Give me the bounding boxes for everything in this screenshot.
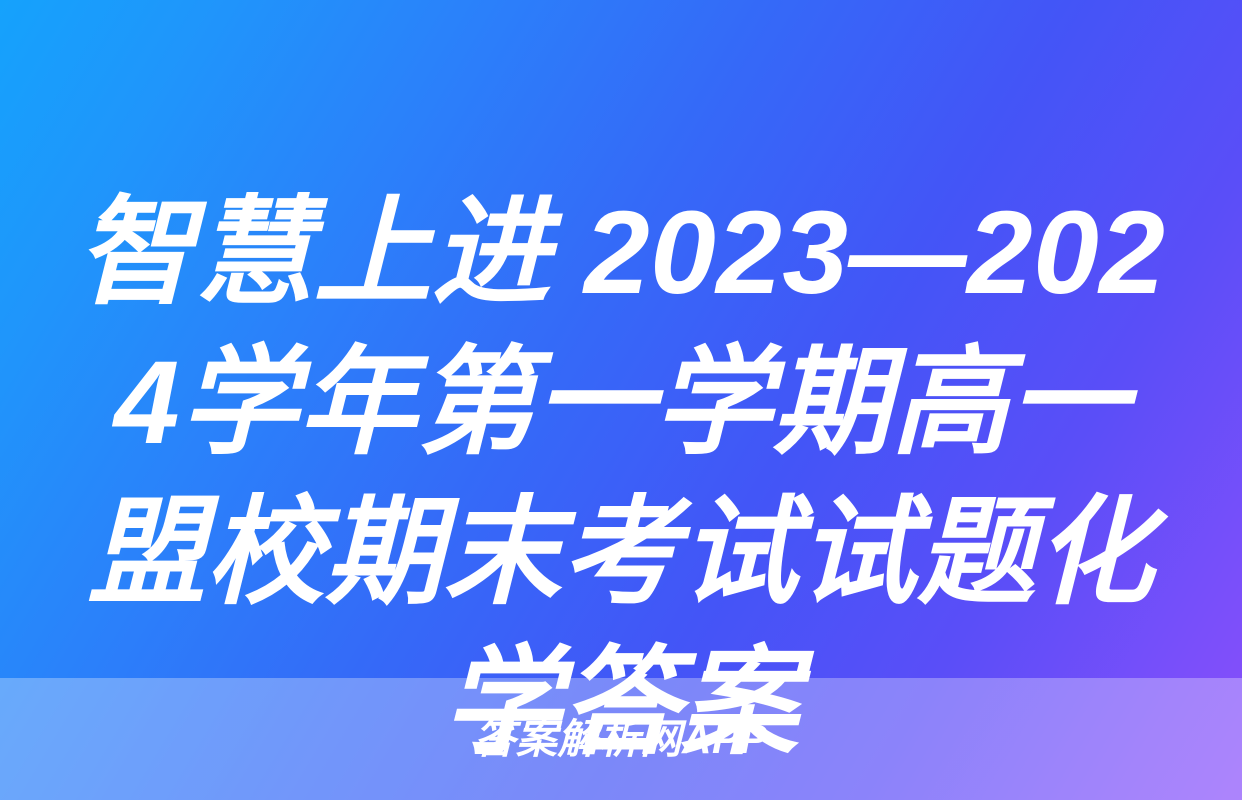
footer-brand-band: 答案解析网APP xyxy=(0,678,1242,800)
poster-canvas: 智慧上进 2023—2024学年第一学期高一盟校期末考试试题化学答案 答案解析网… xyxy=(0,0,1242,800)
footer-brand-label: 答案解析网APP xyxy=(474,719,767,760)
